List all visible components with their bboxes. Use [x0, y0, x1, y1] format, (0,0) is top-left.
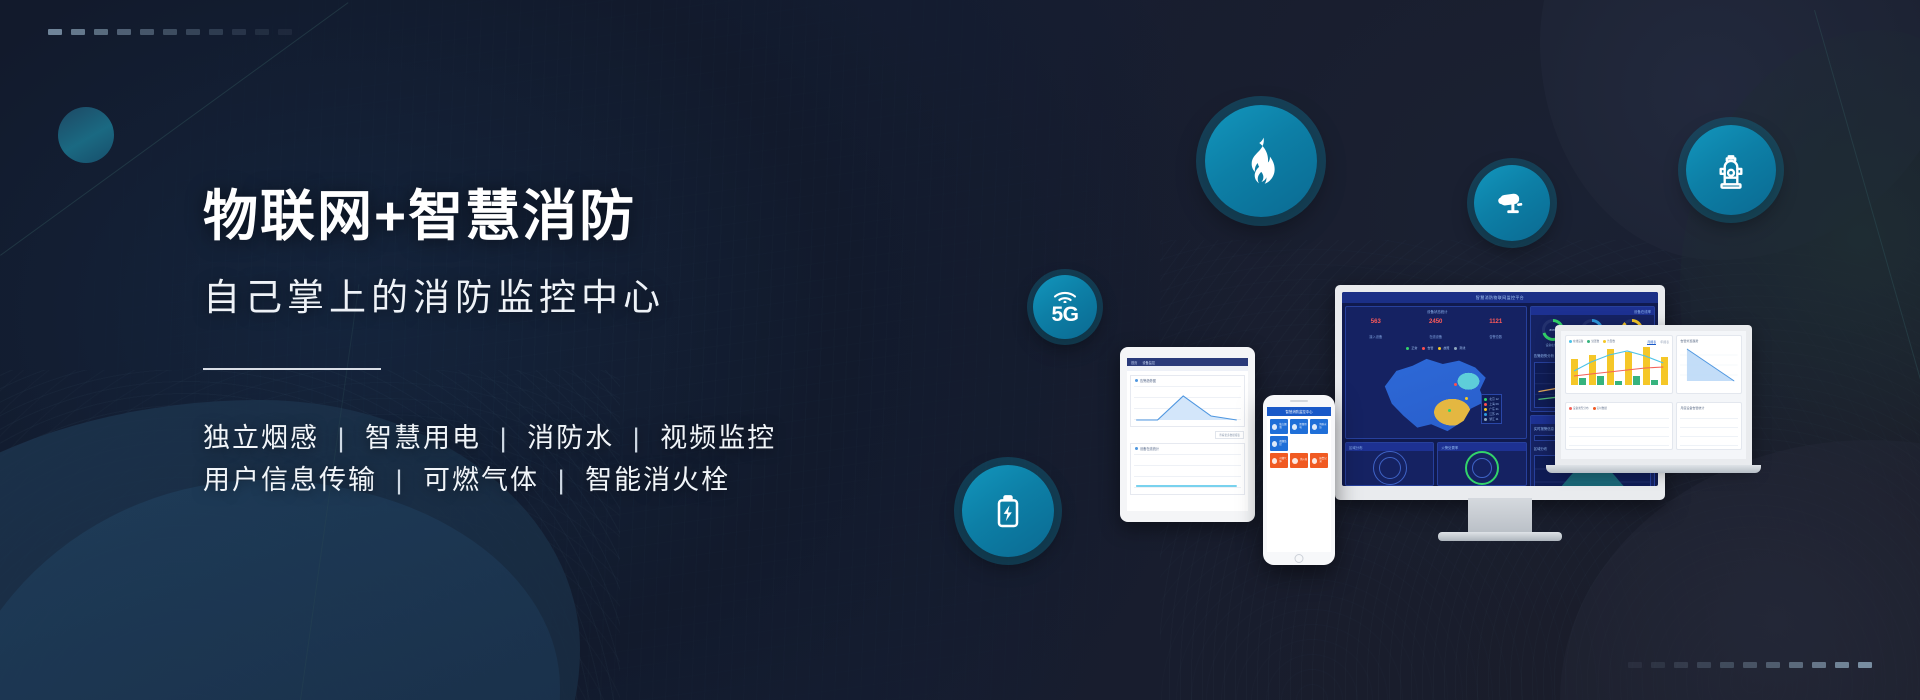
laptop-tab-year[interactable]: 年报表: [1660, 340, 1669, 345]
tablet-more-button[interactable]: 查看更多数据报表: [1215, 431, 1244, 439]
fire-hydrant-icon: [1710, 148, 1752, 192]
phone-mockup: 智慧消防监控中心 独立烟感 智慧用电 消防水压 视频监控 可燃气体 消火栓 报警…: [1263, 395, 1335, 565]
dash-mark: [1628, 662, 1642, 668]
dash-mark: [1858, 662, 1872, 668]
laptop-line-card: 月度设备告警统计: [1676, 402, 1742, 450]
china-map-shape: [1378, 352, 1494, 438]
feature-row-1: 独立烟感 | 智慧用电 | 消防水 | 视频监控: [203, 418, 963, 460]
phone-tile[interactable]: 可燃气体: [1270, 453, 1288, 468]
phone-tile[interactable]: 消防水压: [1310, 419, 1328, 434]
legend-entry: 在线设备: [1569, 339, 1583, 343]
tablet-screen: 首页 设备监控 告警趋势图 查看更多数据报表: [1127, 358, 1248, 511]
feature-row-2: 用户信息传输 | 可燃气体 | 智能消火栓: [203, 460, 963, 502]
tile-label: 智慧用电: [1299, 424, 1308, 429]
feature-list: 独立烟感 | 智慧用电 | 消防水 | 视频监控 用户信息传输 | 可燃气体 |…: [203, 418, 963, 502]
feature-separator: |: [549, 465, 576, 495]
laptop-grid-bg: [1569, 415, 1669, 446]
map-legend-item: 广东 21: [1484, 407, 1498, 411]
phone-tile[interactable]: 消火栓: [1290, 453, 1308, 468]
tile-icon: [1292, 424, 1297, 430]
fire-hydrant-icon-badge: [1686, 125, 1776, 215]
dash-mark: [1743, 662, 1757, 668]
dash-mark: [1789, 662, 1803, 668]
map-legend-row: 正常 告警 故障 离线: [1346, 345, 1526, 352]
bottom-gauge-row: 区域分布 火警处置率: [1345, 442, 1527, 486]
dash-mark: [1835, 662, 1849, 668]
dash-mark: [1697, 662, 1711, 668]
dash-mark: [117, 29, 131, 35]
radar-chart-green: [1465, 451, 1499, 485]
page-title: 物联网+智慧消防: [203, 185, 963, 248]
phone-tile[interactable]: 报警记录: [1310, 453, 1328, 468]
battery-bolt-icon-badge: [962, 465, 1054, 557]
cctv-camera-icon-badge: [1474, 165, 1550, 241]
dash-mark: [1720, 662, 1734, 668]
tablet-card-title: 告警趋势图: [1131, 376, 1244, 383]
kpi-label: 在线设备: [1429, 335, 1442, 339]
tile-icon: [1272, 424, 1277, 430]
laptop-chart-row-1: 在线设备 处置数 告警数 月报表 年报表: [1561, 331, 1746, 398]
gauge-panel-header: 设备在线率: [1531, 307, 1654, 315]
phone-speaker: [1290, 400, 1308, 402]
dash-mark: [1812, 662, 1826, 668]
tablet-area-chart-1: [1134, 388, 1241, 422]
tablet-mockup: 首页 设备监控 告警趋势图 查看更多数据报表: [1120, 347, 1255, 522]
flame-icon-badge: [1205, 105, 1317, 217]
map-legend-item: 浙江 11: [1484, 417, 1498, 421]
laptop-legend: 在线设备 处置数 告警数: [1569, 339, 1615, 343]
laptop-table-card: 设备类型分布 实时数据: [1565, 402, 1673, 450]
tile-icon: [1312, 424, 1317, 430]
tablet-subheader: [1127, 366, 1248, 371]
phone-tile-grid: 独立烟感 智慧用电 消防水压 视频监控 可燃气体 消火栓 报警记录: [1267, 416, 1331, 471]
decorative-dash-row-top-left: [48, 29, 292, 35]
dash-mark: [48, 29, 62, 35]
tile-label: 消防水压: [1319, 424, 1328, 429]
dash-mark: [94, 29, 108, 35]
radar-panel-title: 区域分布: [1349, 445, 1363, 450]
gauge-panel-title: 设备在线率: [1634, 309, 1651, 314]
laptop-area-card: 告警处置趋势: [1676, 335, 1742, 394]
laptop-legend-2: 设备类型分布 实时数据: [1569, 406, 1669, 410]
dashboard-left-column: 设备状态统计 563 接入设备 2450 在线设备: [1345, 306, 1527, 483]
battery-bolt-icon: [988, 490, 1028, 532]
hero-text-block: 物联网+智慧消防 自己掌上的消防监控中心 独立烟感 | 智慧用电 | 消防水 |…: [203, 185, 963, 502]
legend-item: 故障: [1438, 346, 1449, 350]
phone-home-button[interactable]: [1295, 554, 1304, 563]
phone-tile[interactable]: 视频监控: [1270, 436, 1288, 451]
tablet-area-chart-2: [1134, 456, 1241, 490]
radar-panel-header: 区域分布: [1346, 443, 1433, 451]
feature-item: 可燃气体: [423, 465, 539, 495]
dash-mark: [1766, 662, 1780, 668]
tablet-chart-card-2: 设备在线统计: [1130, 443, 1245, 495]
kpi-item: 563 接入设备: [1369, 319, 1382, 343]
5g-signal-icon: [1052, 289, 1078, 303]
dash-mark: [163, 29, 177, 35]
tile-label: 视频监控: [1279, 441, 1288, 446]
decorative-circle-left: [58, 107, 114, 163]
radar-panel-right: 火警处置率: [1437, 442, 1526, 486]
dash-mark: [209, 29, 223, 35]
5g-signal-icon-badge: 5G: [1033, 275, 1097, 339]
map-pin: [1454, 383, 1457, 386]
feature-item: 用户信息传输: [203, 465, 377, 495]
laptop-mockup: 在线设备 处置数 告警数 月报表 年报表: [1555, 325, 1770, 500]
dash-mark: [1651, 662, 1665, 668]
dash-mark: [186, 29, 200, 35]
map-legend-item: 江苏 15: [1484, 412, 1498, 416]
dash-mark: [255, 29, 269, 35]
tablet-card-title-2: 设备在线统计: [1131, 444, 1244, 451]
feature-separator: |: [491, 423, 518, 453]
dash-mark: [71, 29, 85, 35]
phone-tile[interactable]: 智慧用电: [1290, 419, 1308, 434]
laptop-base: [1546, 465, 1761, 473]
dashboard-title: 智慧消防物联网监控平台: [1476, 295, 1524, 301]
page-subtitle: 自己掌上的消防监控中心: [203, 267, 963, 321]
map-panel: 设备状态统计 563 接入设备 2450 在线设备: [1345, 306, 1527, 439]
feature-separator: |: [624, 423, 651, 453]
legend-item: 离线: [1454, 346, 1465, 350]
hero-banner: 物联网+智慧消防 自己掌上的消防监控中心 独立烟感 | 智慧用电 | 消防水 |…: [0, 0, 1920, 700]
kpi-item: 1121 告警总数: [1489, 319, 1502, 343]
legend-entry: 处置数: [1587, 339, 1599, 343]
kpi-label: 接入设备: [1369, 335, 1382, 339]
kpi-value: 563: [1369, 319, 1382, 325]
dist-panel-title: 区域分布: [1534, 446, 1548, 451]
kpi-item: 2450 在线设备: [1429, 319, 1442, 343]
legend-item: 告警: [1422, 346, 1433, 350]
legend-item: 正常: [1406, 346, 1417, 350]
laptop-screen: 在线设备 处置数 告警数 月报表 年报表: [1561, 331, 1746, 459]
radar-chart: [1373, 451, 1407, 485]
laptop-chart-row-2: 设备类型分布 实时数据 月度设备告警统计: [1561, 398, 1746, 454]
alarm-bars-title: 实时报警信息: [1534, 426, 1554, 431]
tile-label: 报警记录: [1319, 458, 1328, 463]
laptop-grid-bg-2: [1680, 415, 1738, 446]
dash-mark: [278, 29, 292, 35]
map-legend-item: 北京 12: [1484, 397, 1498, 401]
kpi-value: 1121: [1489, 319, 1502, 325]
monitor-base: [1438, 532, 1562, 541]
title-divider: [203, 368, 381, 370]
china-map-chart: 北京 12 上海 09 广东 21 江苏 15 浙江 11: [1346, 352, 1526, 438]
dashboard-title-bar: 智慧消防物联网监控平台: [1342, 292, 1658, 303]
tablet-chart-card-1: 告警趋势图: [1130, 375, 1245, 427]
feature-item: 消防水: [527, 423, 614, 453]
tile-label: 消火栓: [1300, 459, 1307, 462]
trend-panel-title: 告警趋势分析: [1534, 353, 1554, 358]
dash-mark: [140, 29, 154, 35]
tablet-tab-monitor[interactable]: 设备监控: [1142, 360, 1155, 365]
radar-panel-title-2: 火警处置率: [1441, 445, 1458, 450]
tile-icon: [1272, 458, 1277, 464]
laptop-area-chart: [1680, 345, 1738, 385]
dash-mark: [1674, 662, 1688, 668]
tile-icon: [1272, 441, 1277, 447]
legend-entry: 实时数据: [1593, 406, 1607, 410]
laptop-overlay-lines: [1569, 345, 1669, 385]
kpi-label: 告警总数: [1489, 335, 1502, 339]
map-region-legend: 北京 12 上海 09 广东 21 江苏 15 浙江 11: [1481, 394, 1501, 424]
tile-icon: [1312, 458, 1317, 464]
map-pin: [1465, 397, 1468, 400]
5g-label: 5G: [1051, 304, 1078, 325]
dash-mark: [232, 29, 246, 35]
phone-header-title: 智慧消防监控中心: [1285, 409, 1312, 414]
laptop-line-title: 月度设备告警统计: [1680, 406, 1738, 410]
feature-separator: |: [329, 423, 356, 453]
map-panel-header: 设备状态统计: [1346, 307, 1526, 315]
phone-header: 智慧消防监控中心: [1267, 407, 1331, 416]
decorative-dash-row-bottom-right: [1628, 662, 1872, 668]
laptop-area-title: 告警处置趋势: [1680, 339, 1738, 343]
cctv-camera-icon: [1493, 184, 1531, 222]
feature-item: 智能消火栓: [585, 465, 730, 495]
tile-label: 独立烟感: [1279, 424, 1288, 429]
tablet-tab-home[interactable]: 首页: [1131, 360, 1137, 365]
map-legend-item: 上海 09: [1484, 402, 1498, 406]
tablet-header: 首页 设备监控: [1127, 358, 1248, 366]
device-mockup-cluster: 智慧消防物联网监控平台 设备状态统计 563: [1120, 285, 1760, 575]
feature-separator: |: [387, 465, 414, 495]
tile-label: 可燃气体: [1279, 458, 1288, 463]
flame-icon: [1235, 132, 1287, 190]
tile-icon: [1292, 458, 1298, 464]
feature-item: 独立烟感: [203, 423, 319, 453]
radar-panel-left: 区域分布: [1345, 442, 1434, 486]
legend-entry: 告警数: [1603, 339, 1615, 343]
kpi-row: 563 接入设备 2450 在线设备 1121: [1346, 315, 1526, 345]
legend-entry: 设备类型分布: [1569, 406, 1589, 410]
feature-item: 智慧用电: [365, 423, 481, 453]
map-panel-title: 设备状态统计: [1427, 309, 1447, 314]
laptop-tab-month[interactable]: 月报表: [1647, 340, 1656, 345]
laptop-bar-card: 在线设备 处置数 告警数 月报表 年报表: [1565, 335, 1673, 394]
phone-tile[interactable]: 独立烟感: [1270, 419, 1288, 434]
kpi-value: 2450: [1429, 319, 1442, 325]
laptop-lid: 在线设备 处置数 告警数 月报表 年报表: [1555, 325, 1752, 465]
radar-panel-header-2: 火警处置率: [1438, 443, 1525, 451]
phone-screen: 智慧消防监控中心 独立烟感 智慧用电 消防水压 视频监控 可燃气体 消火栓 报警…: [1267, 407, 1331, 552]
monitor-stand: [1468, 498, 1532, 534]
feature-item: 视频监控: [660, 423, 776, 453]
